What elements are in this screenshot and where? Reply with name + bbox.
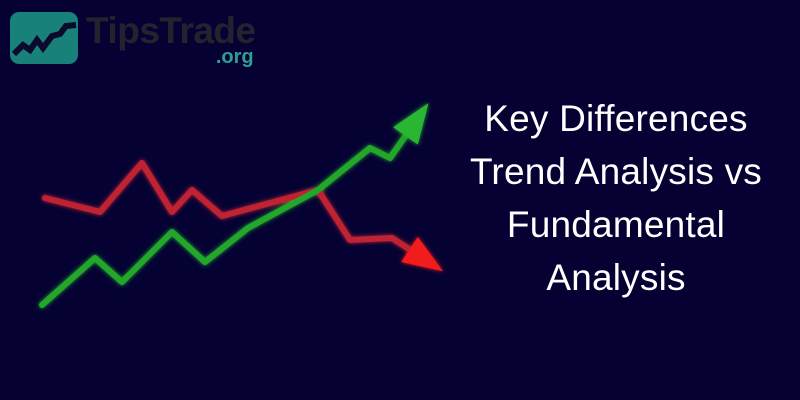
green-up-arrowhead <box>393 103 428 144</box>
promo-banner: TipsTrade .org Key Diffe <box>0 0 800 400</box>
red-downtrend-line <box>45 163 422 258</box>
title-line-1: Key Differences <box>440 92 792 145</box>
page-title: Key Differences Trend Analysis vs Fundam… <box>440 92 792 304</box>
brand-wordmark: TipsTrade .org <box>86 10 256 67</box>
title-line-3: Fundamental <box>440 198 792 251</box>
green-uptrend-line <box>42 123 414 305</box>
brand-logo[interactable]: TipsTrade .org <box>10 10 256 67</box>
line-chart-icon <box>10 12 78 64</box>
red-down-arrowhead <box>401 237 443 271</box>
title-line-4: Analysis <box>440 251 792 304</box>
title-line-2: Trend Analysis vs <box>440 145 792 198</box>
